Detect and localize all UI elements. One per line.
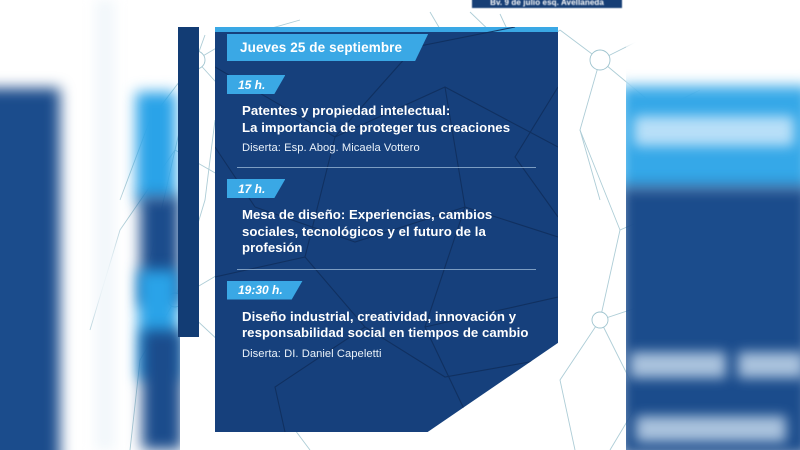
session-speaker: Diserta: Esp. Abog. Micaela Vottero	[242, 141, 530, 155]
blur-shape-navy-2	[142, 330, 180, 450]
blur-shape-navy-band	[626, 186, 800, 450]
session-divider	[237, 269, 536, 270]
card-header-pill: Jueves 25 de septiembre	[227, 34, 428, 61]
session-title: Mesa de diseño: Experiencias, cambios so…	[242, 207, 530, 257]
blur-shape-cyan-1	[136, 92, 176, 202]
schedule-card: Jueves 25 de septiembre 15 h. Patentes y…	[215, 27, 558, 432]
blur-shape-white-top	[626, 0, 800, 92]
blurred-left-edge	[0, 0, 180, 450]
blurred-text-line1-b	[738, 352, 800, 378]
session-time-pill: 19:30 h.	[227, 281, 303, 300]
session-time-pill: 15 h.	[227, 75, 285, 94]
blur-shape-navy-left	[0, 88, 60, 450]
blurred-text-septiembre	[634, 116, 794, 146]
poster-screenshot: Bv. 9 de julio esq. Avellaneda	[0, 0, 800, 450]
session-divider	[237, 167, 536, 168]
address-chip: Bv. 9 de julio esq. Avellaneda	[472, 0, 622, 8]
blurred-text-line2	[636, 416, 786, 442]
session-list: 15 h. Patentes y propiedad intelectual:L…	[215, 75, 558, 361]
session-title: Diseño industrial, creatividad, innovaci…	[242, 309, 530, 342]
session-item-3: 19:30 h. Diseño industrial, creatividad,…	[215, 281, 558, 361]
session-item-1: 15 h. Patentes y propiedad intelectual:L…	[215, 75, 558, 155]
accent-bar-navy	[178, 27, 199, 337]
session-title: Patentes y propiedad intelectual:La impo…	[242, 103, 530, 136]
session-speaker: Diserta: DI. Daniel Capeletti	[242, 347, 530, 361]
blurred-text-line1-a	[630, 352, 726, 378]
blur-shape-white-strip	[95, 0, 115, 450]
blurred-right-edge	[626, 0, 800, 450]
session-item-2: 17 h. Mesa de diseño: Experiencias, camb…	[215, 179, 558, 257]
session-time-pill: 17 h.	[227, 179, 285, 198]
